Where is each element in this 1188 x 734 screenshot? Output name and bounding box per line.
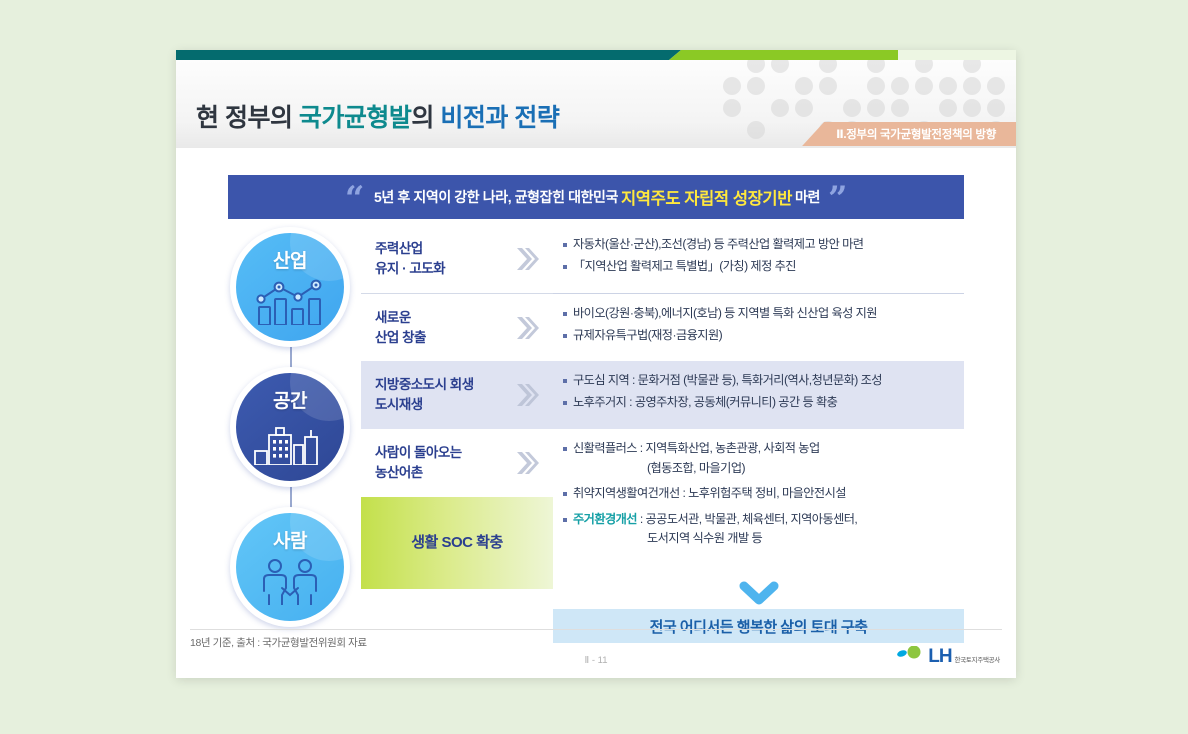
list-item-continuation: 도서지역 식수원 개발 등: [573, 529, 857, 549]
soc-label: 생활 SOC 확충: [411, 532, 503, 554]
list-item-text: 신활력플러스 : 지역특화산업, 농촌관광, 사회적 농업(협동조합, 마을기업…: [573, 439, 820, 478]
chevron-right-icon: [515, 315, 539, 341]
list-item: 규제자유특구법(재정·금융지원): [563, 326, 956, 346]
list-item-text: 구도심 지역 : 문화거점 (박물관 등), 특화거리(역사,청년문화) 조성: [573, 371, 882, 391]
title-segment-5: 전략: [514, 104, 559, 132]
pillar-column: 산업: [228, 225, 353, 678]
chart-line-bar-icon: [253, 277, 327, 330]
list-item: 노후주거지 : 공영주차장, 공동체(커뮤니티) 공간 등 확충: [563, 393, 956, 413]
slide-body: “ 5년 후 지역이 강한 나라, 균형잡힌 대한민국 지역주도 자립적 성장기…: [176, 149, 1016, 678]
list-item-continuation: (협동조합, 마을기업): [573, 459, 820, 479]
bullet-square-icon: [563, 379, 567, 383]
page-title: 현 정부의 국가균형발의 비전과 전략: [196, 98, 559, 134]
list-item-text: 「지역산업 활력제고 특별법」(가칭) 제정 추진: [573, 257, 796, 277]
list-item: 구도심 지역 : 문화거점 (박물관 등), 특화거리(역사,청년문화) 조성: [563, 371, 956, 391]
pillar-people-label: 사람: [273, 526, 307, 553]
strategy-grid: 산업: [228, 225, 964, 678]
detail-block-new-industry: 바이오(강원·충북),에너지(호남) 등 지역별 특화 신산업 육성 지원 규제…: [553, 293, 964, 361]
pillar-space-label: 공간: [273, 386, 307, 413]
strategy-label-main-industry[interactable]: 주력산업유지 · 고도화: [361, 225, 553, 293]
top-accent-bar: [176, 50, 1016, 60]
strategy-label-text: 사람이 돌아오는농산어촌: [375, 443, 462, 482]
accent-bar-green: [669, 50, 914, 60]
detail-column: 자동차(울산·군산),조선(경남) 등 주력산업 활력제고 방안 마련 「지역산…: [553, 225, 964, 678]
vision-highlight-text: 지역주도 자립적 성장기반: [621, 185, 792, 209]
list-item: 신활력플러스 : 지역특화산업, 농촌관광, 사회적 농업(협동조합, 마을기업…: [563, 439, 956, 478]
vision-tail-text: 마련: [795, 187, 820, 207]
footer-divider: [190, 629, 1002, 630]
conclusion-banner: 전국 어디서든 행복한 삶의 토대 구축: [553, 609, 964, 643]
bullet-square-icon: [563, 243, 567, 247]
list-item: 취약지역생활여건개선 : 노후위험주택 정비, 마을안전시설: [563, 484, 956, 504]
title-segment-3: 의: [411, 104, 440, 132]
list-item-text: 바이오(강원·충북),에너지(호남) 등 지역별 특화 신산업 육성 지원: [573, 304, 877, 324]
list-item: 바이오(강원·충북),에너지(호남) 등 지역별 특화 신산업 육성 지원: [563, 304, 956, 324]
list-item-text: 규제자유특구법(재정·금융지원): [573, 326, 722, 346]
lh-logo-text: LH: [928, 647, 951, 666]
bullet-square-icon: [563, 312, 567, 316]
pillar-industry[interactable]: 산업: [230, 227, 350, 347]
bullet-square-icon: [563, 265, 567, 269]
accent-bar-pale: [898, 50, 1016, 60]
pillar-space[interactable]: 공간: [230, 367, 350, 487]
detail-block-main-industry: 자동차(울산·군산),조선(경남) 등 주력산업 활력제고 방안 마련 「지역산…: [553, 225, 964, 293]
two-people-handshake-icon: [253, 557, 327, 610]
chevron-right-icon: [515, 450, 539, 476]
bullet-square-icon: [563, 401, 567, 405]
city-buildings-icon: [253, 417, 327, 470]
chevron-down-icon: [739, 581, 779, 605]
detail-block-rural-return: 신활력플러스 : 지역특화산업, 농촌관광, 사회적 농업(협동조합, 마을기업…: [553, 429, 964, 589]
source-note: 18년 기준, 출처 : 국가균형발전위원회 자료: [190, 635, 367, 650]
list-item: 주거환경개선 : 공공도서관, 박물관, 체육센터, 지역아동센터,도서지역 식…: [563, 510, 956, 549]
list-item: 「지역산업 활력제고 특별법」(가칭) 제정 추진: [563, 257, 956, 277]
strategy-label-rural-return[interactable]: 사람이 돌아오는농산어촌: [361, 429, 553, 497]
chevron-right-icon: [515, 382, 539, 408]
chevron-right-icon: [515, 246, 539, 272]
vision-banner: “ 5년 후 지역이 강한 나라, 균형잡힌 대한민국 지역주도 자립적 성장기…: [228, 175, 964, 219]
strategy-label-text: 새로운산업 창출: [375, 308, 426, 347]
bullet-square-icon: [563, 492, 567, 496]
bullet-square-icon: [563, 334, 567, 338]
bullet-square-icon: [563, 447, 567, 451]
title-segment-4: 비전과: [440, 104, 514, 132]
strategy-label-new-industry[interactable]: 새로운산업 창출: [361, 293, 553, 361]
list-item-text: 취약지역생활여건개선 : 노후위험주택 정비, 마을안전시설: [573, 484, 846, 504]
chapter-tab: Ⅱ.정부의 국가균형발전정책의 방향: [802, 122, 1016, 146]
strategy-label-text: 주력산업유지 · 고도화: [375, 239, 445, 278]
list-item-text: 자동차(울산·군산),조선(경남) 등 주력산업 활력제고 방안 마련: [573, 235, 863, 255]
bullet-square-icon: [563, 518, 567, 522]
strategy-label-living-soc[interactable]: 생활 SOC 확충: [361, 497, 553, 589]
detail-block-urban-regeneration: 구도심 지역 : 문화거점 (박물관 등), 특화거리(역사,청년문화) 조성 …: [553, 361, 964, 429]
chapter-tab-label: Ⅱ.정부의 국가균형발전정책의 방향: [836, 126, 996, 142]
list-item: 자동차(울산·군산),조선(경남) 등 주력산업 활력제고 방안 마련: [563, 235, 956, 255]
lh-logo: LH 한국토지주택공사: [890, 646, 1000, 666]
title-segment-1: 현 정부의: [196, 104, 299, 132]
strategy-label-urban-regeneration[interactable]: 지방중소도시 회생도시재생: [361, 361, 553, 429]
slide-header: 현 정부의 국가균형발의 비전과 전략 Ⅱ.정부의 국가균형발전정책의 방향: [176, 60, 1016, 148]
vision-lead-text: 5년 후 지역이 강한 나라, 균형잡힌 대한민국: [374, 187, 618, 207]
conclusion-text: 전국 어디서든 행복한 삶의 토대 구축: [650, 616, 868, 637]
accent-bar-teal: [176, 50, 681, 60]
lh-logo-subtitle: 한국토지주택공사: [955, 654, 1000, 666]
lh-logo-mark-icon: [890, 646, 924, 666]
pillar-industry-label: 산업: [273, 246, 307, 273]
pillar-people[interactable]: 사람: [230, 507, 350, 627]
strategy-label-column: 주력산업유지 · 고도화 새로운산업 창출 지방중소도시 회생도시재생: [361, 225, 553, 678]
presentation-slide: 현 정부의 국가균형발의 비전과 전략 Ⅱ.정부의 국가균형발전정책의 방향 “…: [176, 50, 1016, 678]
list-item-highlight: 주거환경개선: [573, 512, 637, 526]
list-item-text: 주거환경개선 : 공공도서관, 박물관, 체육센터, 지역아동센터,도서지역 식…: [573, 510, 857, 549]
strategy-label-text: 지방중소도시 회생도시재생: [375, 375, 474, 414]
list-item-text: 노후주거지 : 공영주차장, 공동체(커뮤니티) 공간 등 확충: [573, 393, 837, 413]
title-segment-2: 국가균형발: [299, 104, 412, 132]
